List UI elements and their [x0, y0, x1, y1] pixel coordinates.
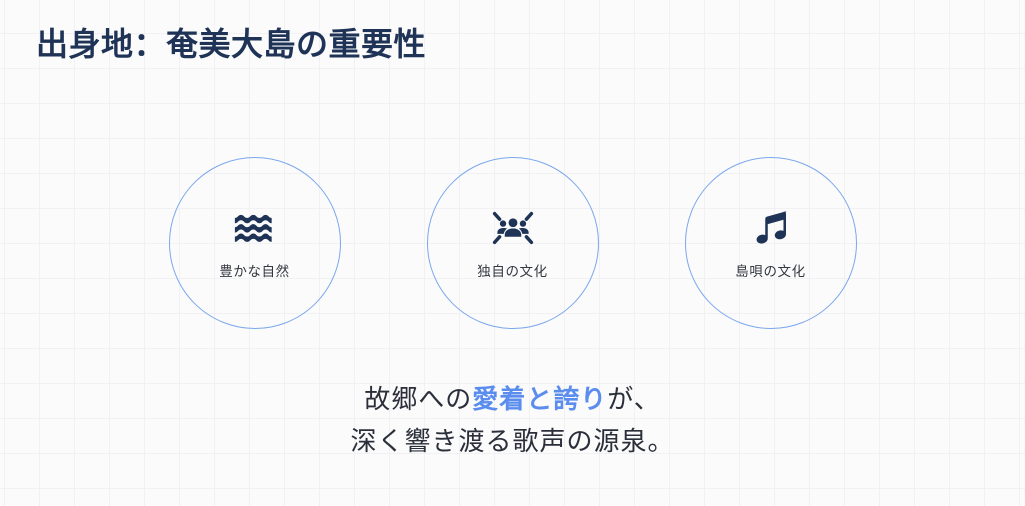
people-group-icon	[490, 205, 536, 251]
feature-card-music[interactable]: 島唄の文化	[685, 157, 857, 329]
feature-card-culture[interactable]: 独自の文化	[427, 157, 599, 329]
feature-label: 豊かな自然	[219, 263, 290, 281]
statement-text-before: 故郷への	[364, 384, 472, 414]
slide-root: 出身地：奄美大島の重要性 豊かな自然	[0, 0, 1025, 506]
feature-circle-row: 豊かな自然	[0, 157, 1025, 329]
feature-card-nature[interactable]: 豊かな自然	[169, 157, 341, 329]
music-note-icon	[748, 205, 794, 251]
page-title: 出身地：奄美大島の重要性	[36, 22, 426, 66]
statement-line-2: 深く響き渡る歌声の源泉。	[0, 420, 1025, 462]
feature-label: 島唄の文化	[735, 263, 806, 281]
feature-label: 独自の文化	[477, 263, 548, 281]
waves-icon	[232, 205, 278, 251]
statement-text-after: が、	[607, 384, 660, 414]
statement-line-1: 故郷への愛着と誇りが、	[0, 378, 1025, 420]
closing-statement: 故郷への愛着と誇りが、 深く響き渡る歌声の源泉。	[0, 378, 1025, 462]
statement-accent: 愛着と誇り	[472, 384, 607, 414]
